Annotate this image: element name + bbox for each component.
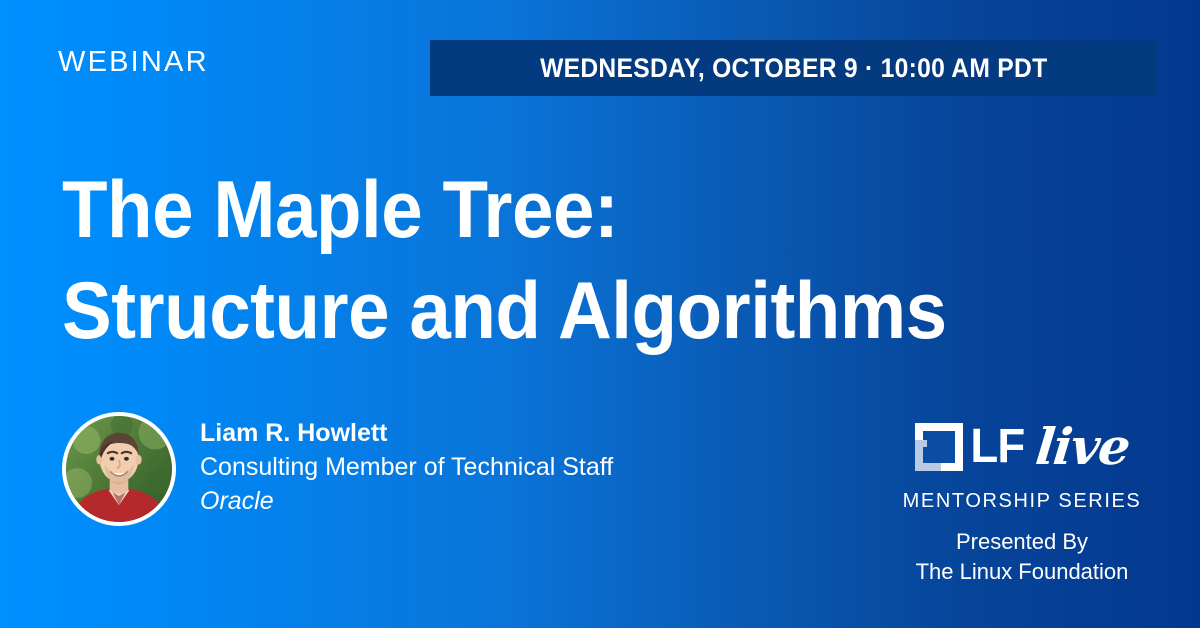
presented-by-label: Presented By: [892, 527, 1152, 557]
date-time-text: WEDNESDAY, OCTOBER 9 · 10:00 AM PDT: [540, 53, 1047, 84]
title-line-2: Structure and Algorithms: [62, 261, 1046, 362]
avatar: [62, 412, 176, 526]
mentorship-series-label: MENTORSHIP SERIES: [892, 490, 1152, 513]
lf-live-branding: LF live MENTORSHIP SERIES Presented By T…: [892, 418, 1152, 587]
speaker-block: Liam R. Howlett Consulting Member of Tec…: [62, 412, 613, 526]
webinar-promo-banner: WEBINAR WEDNESDAY, OCTOBER 9 · 10:00 AM …: [0, 0, 1200, 628]
lf-logo-letters: LF: [971, 423, 1025, 471]
speaker-details: Liam R. Howlett Consulting Member of Tec…: [200, 417, 613, 522]
speaker-role: Consulting Member of Technical Staff: [200, 450, 613, 484]
speaker-organization: Oracle: [200, 484, 613, 518]
lf-live-logo: LF live: [892, 418, 1152, 476]
webinar-eyebrow-label: WEBINAR: [58, 48, 209, 77]
title-line-1: The Maple Tree:: [62, 160, 1046, 261]
linux-foundation-square-icon: [915, 423, 963, 471]
speaker-name: Liam R. Howlett: [200, 417, 613, 450]
date-time-banner: WEDNESDAY, OCTOBER 9 · 10:00 AM PDT: [430, 40, 1158, 96]
title-block: The Maple Tree: Structure and Algorithms: [62, 160, 1132, 362]
presenting-organization: The Linux Foundation: [892, 557, 1152, 587]
lf-logo-live-script: live: [1033, 423, 1131, 471]
